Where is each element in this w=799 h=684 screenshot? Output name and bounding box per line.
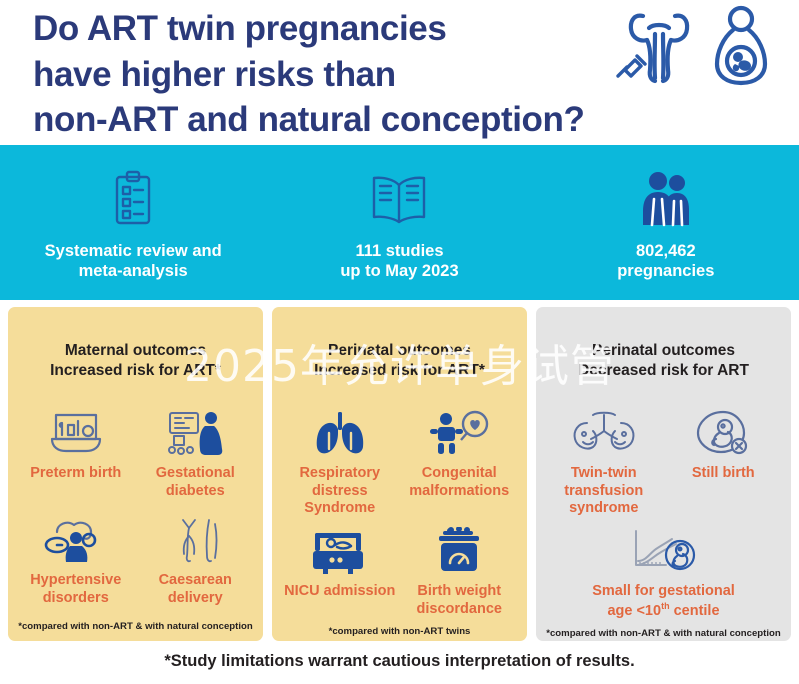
panel-heading: Perinatal outcomes Increased risk for AR… xyxy=(280,341,519,381)
outcome-label: Hypertensive disorders xyxy=(30,572,121,607)
page-title-line-3: non-ART and natural conception? xyxy=(33,97,593,143)
panel-footnote: *compared with non-ART & with natural co… xyxy=(544,628,783,648)
stat-studies-count: 111 studies up to May 2023 xyxy=(266,164,532,282)
outcome-label: Small for gestationalage <10th centile xyxy=(592,583,735,620)
outcome-item: Small for gestationalage <10th centile xyxy=(544,525,783,620)
panel-heading: Maternal outcomes Increased risk for ART… xyxy=(16,341,255,381)
stat-label: 111 studies up to May 2023 xyxy=(340,242,458,282)
nicu-incubator-icon xyxy=(309,525,371,577)
panel-items: Twin-twin transfusion syndrome xyxy=(544,407,783,628)
page-title: Do ART twin pregnancies have higher risk… xyxy=(33,6,593,143)
page-title-line-1: Do ART twin pregnancies xyxy=(33,6,593,52)
pregnant-woman-fetus-icon xyxy=(713,4,769,93)
open-book-icon xyxy=(369,168,429,230)
baby-heart-magnifier-icon xyxy=(428,407,490,459)
footer-disclaimer: *Study limitations warrant cautious inte… xyxy=(164,652,634,671)
caesarean-incision-icon xyxy=(167,514,223,566)
outcome-item: Caesarean delivery xyxy=(136,514,256,613)
outcome-item: Still birth xyxy=(664,407,784,517)
panel-heading: Perinatal outcomes Decreased risk for AR… xyxy=(544,341,783,381)
outcome-item: Preterm birth xyxy=(16,407,136,506)
outcome-item: Congenital malformations xyxy=(400,407,520,517)
outcome-label: Preterm birth xyxy=(30,465,121,482)
header: Do ART twin pregnancies have higher risk… xyxy=(0,0,799,145)
baby-weight-scale-icon xyxy=(431,525,487,577)
panel-items: Preterm birth xyxy=(16,407,255,621)
outcome-label: Gestational diabetes xyxy=(156,465,235,500)
incubator-preterm-icon xyxy=(48,407,104,459)
outcome-label: Respiratory distress Syndrome xyxy=(280,465,400,517)
outcome-item: NICU admission xyxy=(280,525,400,618)
panel-perinatal-increased-risk: Perinatal outcomes Increased risk for AR… xyxy=(272,307,527,641)
outcome-item: Twin-twin transfusion syndrome xyxy=(544,407,664,517)
stat-label: Systematic review and meta-analysis xyxy=(45,242,222,282)
outcome-item: Gestational diabetes xyxy=(136,407,256,506)
panel-maternal-increased-risk: Maternal outcomes Increased risk for ART… xyxy=(8,307,263,641)
lungs-icon xyxy=(312,407,368,459)
panel-items: Respiratory distress Syndrome xyxy=(280,407,519,626)
outcome-label: Caesarean delivery xyxy=(159,572,232,607)
twin-fetuses-placenta-icon xyxy=(569,407,639,459)
outcome-label: Congenital malformations xyxy=(409,465,509,500)
panel-footnote: *compared with non-ART twins xyxy=(280,626,519,646)
stillbirth-fetus-cross-icon xyxy=(694,407,752,459)
outcome-label: Birth weight discordance xyxy=(417,583,502,618)
stat-label: 802,462 pregnancies xyxy=(617,242,714,282)
growth-chart-fetus-icon xyxy=(626,525,702,577)
outcome-item: Hypertensive disorders xyxy=(16,514,136,613)
panel-footnote: *compared with non-ART & with natural co… xyxy=(16,621,255,641)
clipboard-checklist-icon xyxy=(109,168,157,230)
outcome-label: Twin-twin transfusion syndrome xyxy=(564,465,643,517)
uterus-syringe-icon xyxy=(613,4,705,93)
panel-perinatal-decreased-risk: Perinatal outcomes Decreased risk for AR… xyxy=(536,307,791,641)
page-title-line-2: have higher risks than xyxy=(33,52,593,98)
stat-pregnancies-count: 802,462 pregnancies xyxy=(533,164,799,282)
blood-pressure-pregnant-icon xyxy=(43,514,109,566)
glucose-test-pregnant-icon xyxy=(164,407,226,459)
outcome-label: Still birth xyxy=(692,465,755,482)
stats-band: Systematic review and meta-analysis 111 … xyxy=(0,145,799,300)
outcome-panels: Maternal outcomes Increased risk for ART… xyxy=(0,300,799,641)
stat-systematic-review: Systematic review and meta-analysis xyxy=(0,164,266,282)
outcome-label: NICU admission xyxy=(284,583,395,600)
two-people-icon xyxy=(639,168,693,230)
header-icon-group xyxy=(613,4,769,93)
outcome-item: Respiratory distress Syndrome xyxy=(280,407,400,517)
outcome-item: Birth weight discordance xyxy=(400,525,520,618)
